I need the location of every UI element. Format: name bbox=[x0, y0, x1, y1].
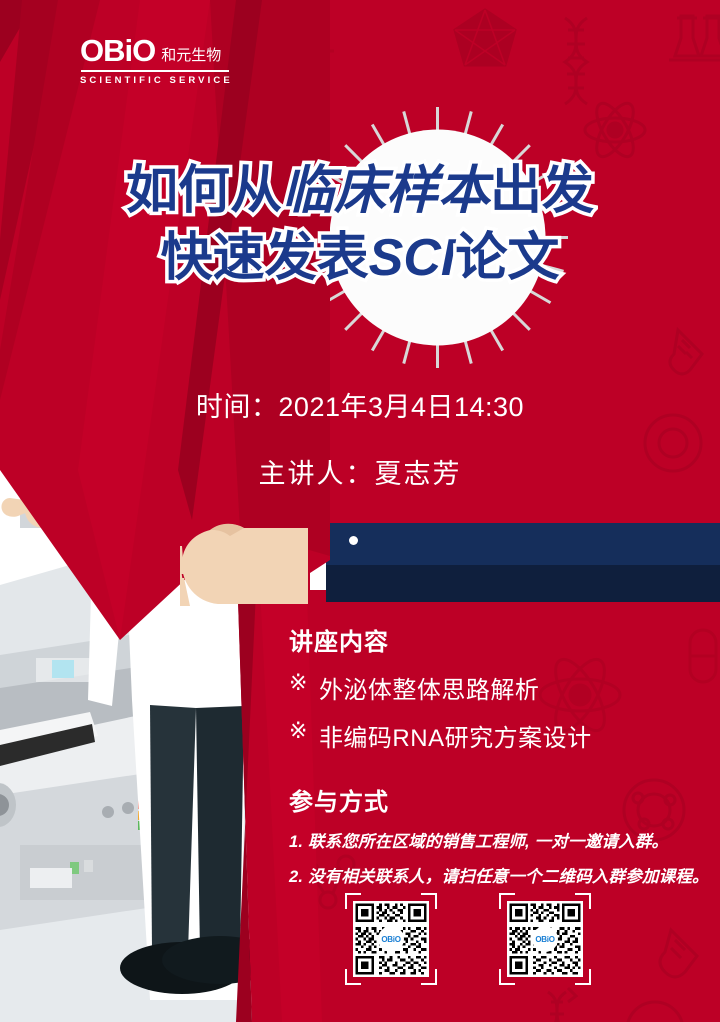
qr-code-2[interactable]: OBiO bbox=[499, 893, 591, 985]
title-line-2: 快速发表SCI论文 bbox=[0, 227, 720, 290]
logo-company-name-cn: 和元生物 bbox=[161, 48, 221, 66]
banner-dot-icon bbox=[349, 536, 358, 545]
bullet-mark-icon: ※ bbox=[289, 718, 308, 753]
lecture-item-2: ※ 非编码RNA研究方案设计 bbox=[289, 718, 592, 753]
participation-line-2: 2. 没有相关联系人，请扫任意一个二维码入群参加课程。 bbox=[289, 863, 709, 887]
event-time: 时间：2021年3月4日14:30 bbox=[0, 385, 720, 424]
logo-tagline: SCIENTIFIC SERVICE bbox=[80, 75, 233, 86]
qr-code-group: OBiO bbox=[345, 893, 591, 985]
curtain-hand bbox=[180, 512, 330, 617]
event-speaker: 主讲人：夏志芳 bbox=[0, 452, 720, 491]
logo-row: OBiO 和元生物 bbox=[80, 35, 233, 66]
title-line2-part1: 快速发表 bbox=[161, 229, 369, 287]
participation-heading: 参与方式 bbox=[289, 782, 709, 817]
title-line1-part1: 如何从 bbox=[126, 162, 282, 220]
lecture-item-1-label: 外泌体整体思路解析 bbox=[319, 670, 540, 705]
navy-banner-bottom bbox=[326, 565, 720, 602]
title-line2-part2: 论文 bbox=[455, 229, 559, 287]
logo-divider bbox=[81, 70, 229, 72]
title-line1-emphasis: 临床样本 bbox=[282, 162, 490, 220]
qr-center-logo-1: OBiO bbox=[378, 926, 404, 952]
logo-wordmark: OBiO bbox=[80, 35, 155, 66]
obio-logo: OBiO 和元生物 SCIENTIFIC SERVICE bbox=[80, 35, 233, 86]
poster-root: OBiO 和元生物 SCIENTIFIC SERVICE 如何从临床样本出发 快… bbox=[0, 0, 720, 1022]
red-curtain bbox=[0, 0, 330, 1022]
participation-line-1: 1. 联系您所在区域的销售工程师, 一对一邀请入群。 bbox=[289, 828, 709, 852]
title-line2-emphasis: SCI bbox=[369, 229, 456, 287]
lecture-item-1: ※ 外泌体整体思路解析 bbox=[289, 670, 592, 705]
qr-center-logo-2: OBiO bbox=[532, 926, 558, 952]
lecture-content-heading: 讲座内容 bbox=[289, 622, 592, 657]
poster-title: 如何从临床样本出发 快速发表SCI论文 bbox=[0, 160, 720, 291]
bullet-mark-icon: ※ bbox=[289, 670, 308, 705]
participation-block: 参与方式 1. 联系您所在区域的销售工程师, 一对一邀请入群。 2. 没有相关联… bbox=[289, 782, 709, 887]
lecture-content-block: 讲座内容 ※ 外泌体整体思路解析 ※ 非编码RNA研究方案设计 bbox=[289, 622, 592, 753]
navy-banner-top bbox=[326, 523, 720, 565]
qr-code-1[interactable]: OBiO bbox=[345, 893, 437, 985]
lecture-item-2-label: 非编码RNA研究方案设计 bbox=[319, 718, 592, 753]
title-line1-part2: 出发 bbox=[490, 162, 594, 220]
title-line-1: 如何从临床样本出发 bbox=[0, 160, 720, 223]
